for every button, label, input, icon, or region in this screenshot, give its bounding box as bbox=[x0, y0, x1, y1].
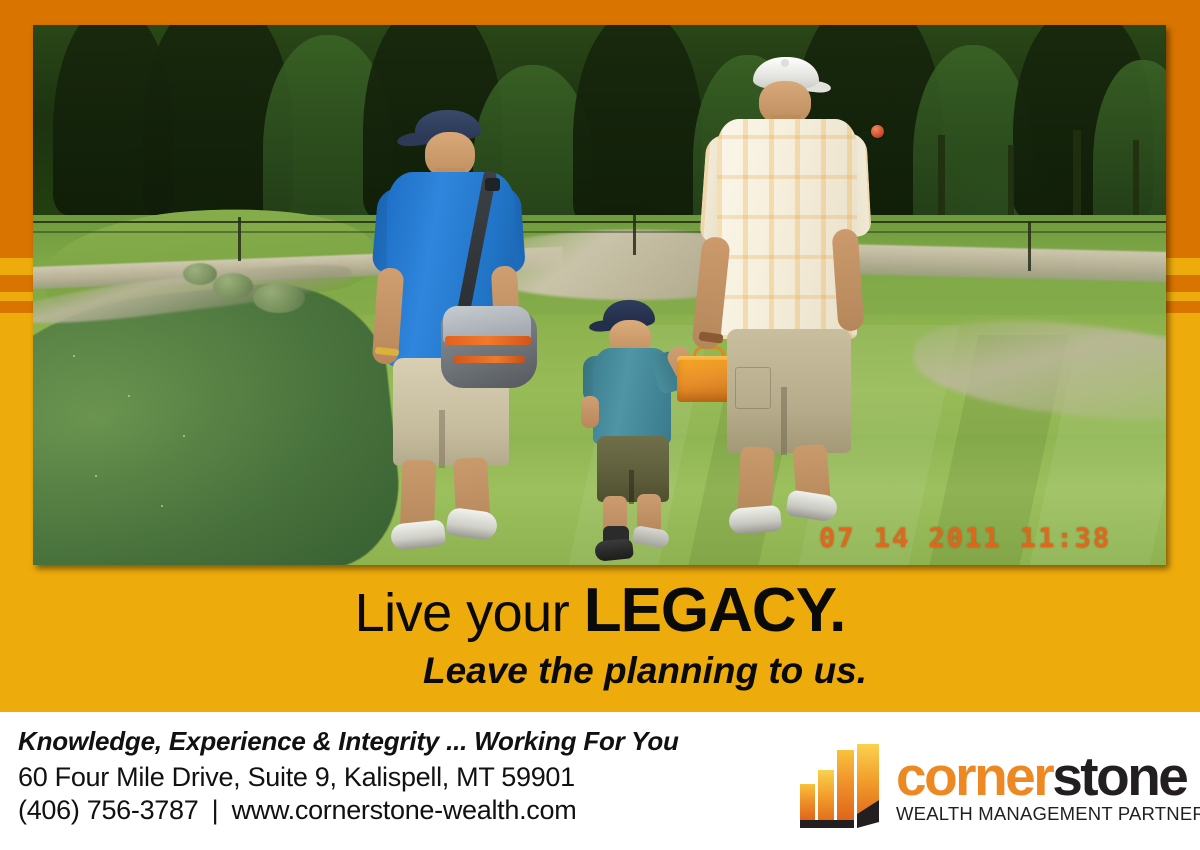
phone-and-website: (406) 756-3787 | www.cornerstone-wealth.… bbox=[18, 795, 679, 826]
advertisement-card: 07 14 2011 11:38 Live your LEGACY. Leave… bbox=[0, 0, 1200, 850]
arm-left bbox=[581, 396, 599, 428]
logo-word-corner: corner bbox=[896, 745, 1052, 807]
shore-bush bbox=[253, 283, 305, 313]
figure-father bbox=[701, 57, 881, 557]
bag-orange-trim bbox=[445, 336, 531, 345]
logo-word-line: cornerstone bbox=[896, 750, 1200, 802]
shoe-right bbox=[785, 489, 838, 523]
phone-number[interactable]: (406) 756-3787 bbox=[18, 795, 198, 825]
office-address: 60 Four Mile Drive, Suite 9, Kalispell, … bbox=[18, 762, 679, 793]
fence-post bbox=[238, 217, 241, 261]
shorts-seam bbox=[781, 387, 787, 455]
fence-post bbox=[1028, 221, 1031, 271]
shoe-left bbox=[728, 505, 782, 535]
shoe-right bbox=[445, 507, 498, 542]
tagline-line-1: Live your LEGACY. bbox=[0, 580, 1200, 642]
bar-chart-logo-icon bbox=[800, 742, 882, 828]
separator: | bbox=[206, 795, 225, 825]
website-link[interactable]: www.cornerstone-wealth.com bbox=[232, 795, 577, 825]
footer-contact-block: Knowledge, Experience & Integrity ... Wo… bbox=[18, 726, 679, 828]
figure-grandfather bbox=[373, 110, 548, 565]
water-sparkle bbox=[73, 355, 75, 357]
company-logo[interactable]: cornerstone WEALTH MANAGEMENT PARTNERS, … bbox=[800, 742, 1188, 838]
logo-subtitle: WEALTH MANAGEMENT PARTNERS, PC bbox=[896, 803, 1200, 825]
tree bbox=[573, 25, 703, 225]
camera-date-stamp: 07 14 2011 11:38 bbox=[819, 523, 1111, 554]
fence-wire bbox=[33, 221, 1166, 223]
shoe-left bbox=[390, 519, 446, 551]
figure-boy bbox=[581, 300, 701, 565]
shoe-right bbox=[632, 525, 671, 549]
tagline-light-text: Live your bbox=[355, 583, 570, 643]
water-sparkle bbox=[183, 435, 185, 437]
bag-orange-trim bbox=[453, 356, 525, 363]
photo-scene: 07 14 2011 11:38 bbox=[33, 25, 1166, 565]
water-sparkle bbox=[95, 475, 97, 477]
shore-bush bbox=[213, 273, 253, 299]
fence-wire bbox=[33, 231, 1166, 233]
logo-wordmark: cornerstone WEALTH MANAGEMENT PARTNERS, … bbox=[896, 750, 1200, 825]
bag-strap-clip bbox=[485, 178, 500, 191]
tagline-block: Live your LEGACY. Leave the planning to … bbox=[0, 580, 1200, 692]
hero-photo: 07 14 2011 11:38 bbox=[33, 25, 1166, 565]
fence-post bbox=[633, 215, 636, 255]
cap-button bbox=[781, 59, 789, 67]
water-sparkle bbox=[128, 395, 130, 397]
shorts-seam bbox=[629, 470, 634, 504]
water-sparkle bbox=[161, 505, 163, 507]
tagline-line-2: Leave the planning to us. bbox=[0, 650, 1200, 692]
company-slogan: Knowledge, Experience & Integrity ... Wo… bbox=[18, 726, 679, 757]
tagline-bold-text: LEGACY. bbox=[584, 576, 846, 645]
shorts-seam bbox=[439, 410, 445, 468]
shoe-left bbox=[594, 538, 634, 562]
shorts-pocket bbox=[735, 367, 771, 409]
shore-bush bbox=[183, 263, 217, 285]
logo-word-stone: stone bbox=[1052, 745, 1186, 807]
